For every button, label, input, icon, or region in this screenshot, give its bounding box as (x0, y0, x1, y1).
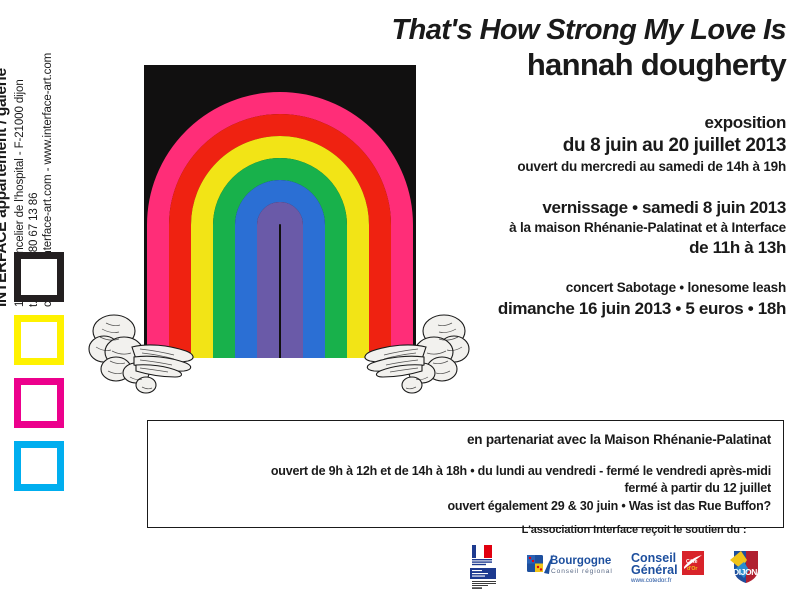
sponsor-logo-row: Bourgogne Conseil régional Conseil Génér… (440, 543, 790, 591)
color-swatch-cyan (14, 441, 64, 491)
color-swatch-black (14, 252, 64, 302)
artwork-image (144, 65, 416, 358)
partnership-closure: fermé à partir du 12 juillet (160, 480, 771, 498)
exposition-heading: exposition (430, 112, 786, 134)
concert-block: concert Sabotage • lonesome leash dimanc… (430, 279, 786, 319)
vernissage-venue: à la maison Rhénanie-Palatinat et à Inte… (430, 219, 786, 237)
sponsors-section: L'association Interface reçoit le soutie… (440, 524, 790, 591)
sidebar: INTERFACE appartement / galerie 12 rue c… (0, 0, 96, 590)
exhibition-title: That's How Strong My Love Is (300, 14, 786, 46)
logo-ville-de-dijon: DIJON (726, 547, 766, 587)
svg-text:DIJON: DIJON (733, 567, 757, 577)
event-info-column: exposition du 8 juin au 20 juillet 2013 … (430, 112, 786, 320)
engraved-hand-cloud-right (350, 307, 470, 402)
partnership-hours: ouvert de 9h à 12h et de 14h à 18h • du … (160, 463, 771, 481)
engraved-hand-cloud-left (88, 307, 208, 402)
vernissage-time: de 11h à 13h (430, 237, 786, 259)
sponsors-caption: L'association Interface reçoit le soutie… (478, 524, 790, 536)
logo-conseil-general-cote-dor: Conseil Général Côte d'Or www.cotedor.fr (630, 549, 708, 585)
partnership-extra-dates: ouvert également 29 & 30 juin • Was ist … (160, 498, 771, 516)
poster-header: That's How Strong My Love Is hannah doug… (300, 14, 786, 83)
svg-text:Général: Général (631, 563, 678, 577)
vernissage-heading: vernissage • samedi 8 juin 2013 (430, 197, 786, 219)
partnership-box: en partenariat avec la Maison Rhénanie-P… (147, 420, 784, 528)
partnership-title: en partenariat avec la Maison Rhénanie-P… (160, 431, 771, 449)
logo-bourgogne-conseil-regional: Bourgogne Conseil régional (526, 550, 612, 584)
concert-details: dimanche 16 juin 2013 • 5 euros • 18h (430, 298, 786, 320)
exposition-dates: du 8 juin au 20 juillet 2013 (430, 134, 786, 158)
bourgogne-shield (527, 555, 543, 572)
exposition-block: exposition du 8 juin au 20 juillet 2013 … (430, 112, 786, 177)
logo-republique-francaise-culture (464, 544, 508, 590)
svg-text:Côte: Côte (686, 559, 698, 565)
gallery-name: INTERFACE appartement / galerie (0, 68, 12, 307)
svg-text:Bourgogne: Bourgogne (550, 555, 611, 567)
svg-text:www.cotedor.fr: www.cotedor.fr (630, 577, 672, 584)
svg-text:Conseil régional: Conseil régional (551, 568, 612, 575)
color-swatch-yellow (14, 315, 64, 365)
artist-name: hannah dougherty (300, 47, 786, 83)
cmyk-swatch-column (14, 252, 64, 504)
color-swatch-magenta (14, 378, 64, 428)
svg-text:d'Or: d'Or (687, 566, 697, 572)
concert-heading: concert Sabotage • lonesome leash (430, 279, 786, 297)
exposition-hours: ouvert du mercredi au samedi de 14h à 19… (430, 158, 786, 176)
vernissage-block: vernissage • samedi 8 juin 2013 à la mai… (430, 197, 786, 260)
